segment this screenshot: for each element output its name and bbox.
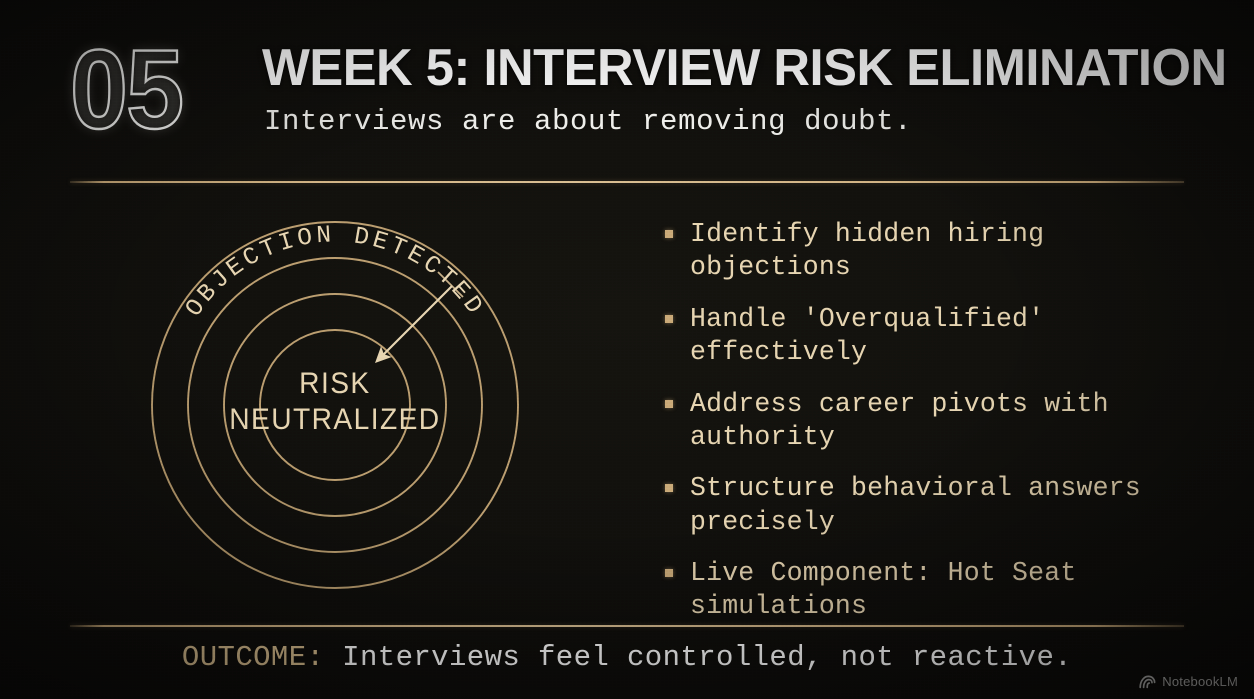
notebooklm-icon bbox=[1139, 675, 1156, 689]
list-item-label: Address career pivots with authority bbox=[690, 389, 1109, 452]
notebooklm-watermark: NotebookLM bbox=[1139, 674, 1238, 689]
list-item-label: Structure behavioral answers precisely bbox=[690, 473, 1141, 536]
list-item: Handle 'Overqualified' effectively bbox=[660, 303, 1220, 370]
list-item-label: Handle 'Overqualified' effectively bbox=[690, 304, 1044, 367]
outcome-label: OUTCOME: bbox=[182, 641, 324, 674]
bullet-square-icon bbox=[665, 484, 673, 492]
slide-header: 05 WEEK 5: INTERVIEW RISK ELIMINATION In… bbox=[70, 40, 1184, 160]
radar-diagram: OBJECTION DETECTED RISK NEUTRALIZED bbox=[130, 200, 540, 610]
watermark-label: NotebookLM bbox=[1162, 674, 1238, 689]
list-item: Structure behavioral answers precisely bbox=[660, 472, 1220, 539]
key-points-list: Identify hidden hiring objections Handle… bbox=[660, 218, 1220, 624]
list-item: Identify hidden hiring objections bbox=[660, 218, 1220, 285]
divider-bottom bbox=[70, 625, 1184, 627]
list-item: Live Component: Hot Seat simulations bbox=[660, 557, 1220, 624]
bullet-square-icon bbox=[665, 230, 673, 238]
radar-svg: OBJECTION DETECTED RISK NEUTRALIZED bbox=[130, 200, 540, 610]
radar-center-label-line2: NEUTRALIZED bbox=[229, 403, 440, 436]
bullet-square-icon bbox=[665, 315, 673, 323]
bullet-square-icon bbox=[665, 569, 673, 577]
page-title: WEEK 5: INTERVIEW RISK ELIMINATION bbox=[262, 40, 1161, 96]
list-item-label: Live Component: Hot Seat simulations bbox=[690, 558, 1076, 621]
divider-top bbox=[70, 181, 1184, 183]
slide-number: 05 bbox=[70, 34, 182, 146]
outcome-line: OUTCOME: Interviews feel controlled, not… bbox=[0, 641, 1254, 674]
title-block: WEEK 5: INTERVIEW RISK ELIMINATION Inter… bbox=[262, 40, 1184, 138]
radar-center-label-line1: RISK bbox=[299, 367, 370, 400]
outcome-text: Interviews feel controlled, not reactive… bbox=[342, 641, 1072, 674]
list-item-label: Identify hidden hiring objections bbox=[690, 219, 1044, 282]
bullet-square-icon bbox=[665, 400, 673, 408]
page-subtitle: Interviews are about removing doubt. bbox=[264, 106, 1184, 138]
list-item: Address career pivots with authority bbox=[660, 388, 1220, 455]
slide-canvas: 05 WEEK 5: INTERVIEW RISK ELIMINATION In… bbox=[0, 0, 1254, 699]
